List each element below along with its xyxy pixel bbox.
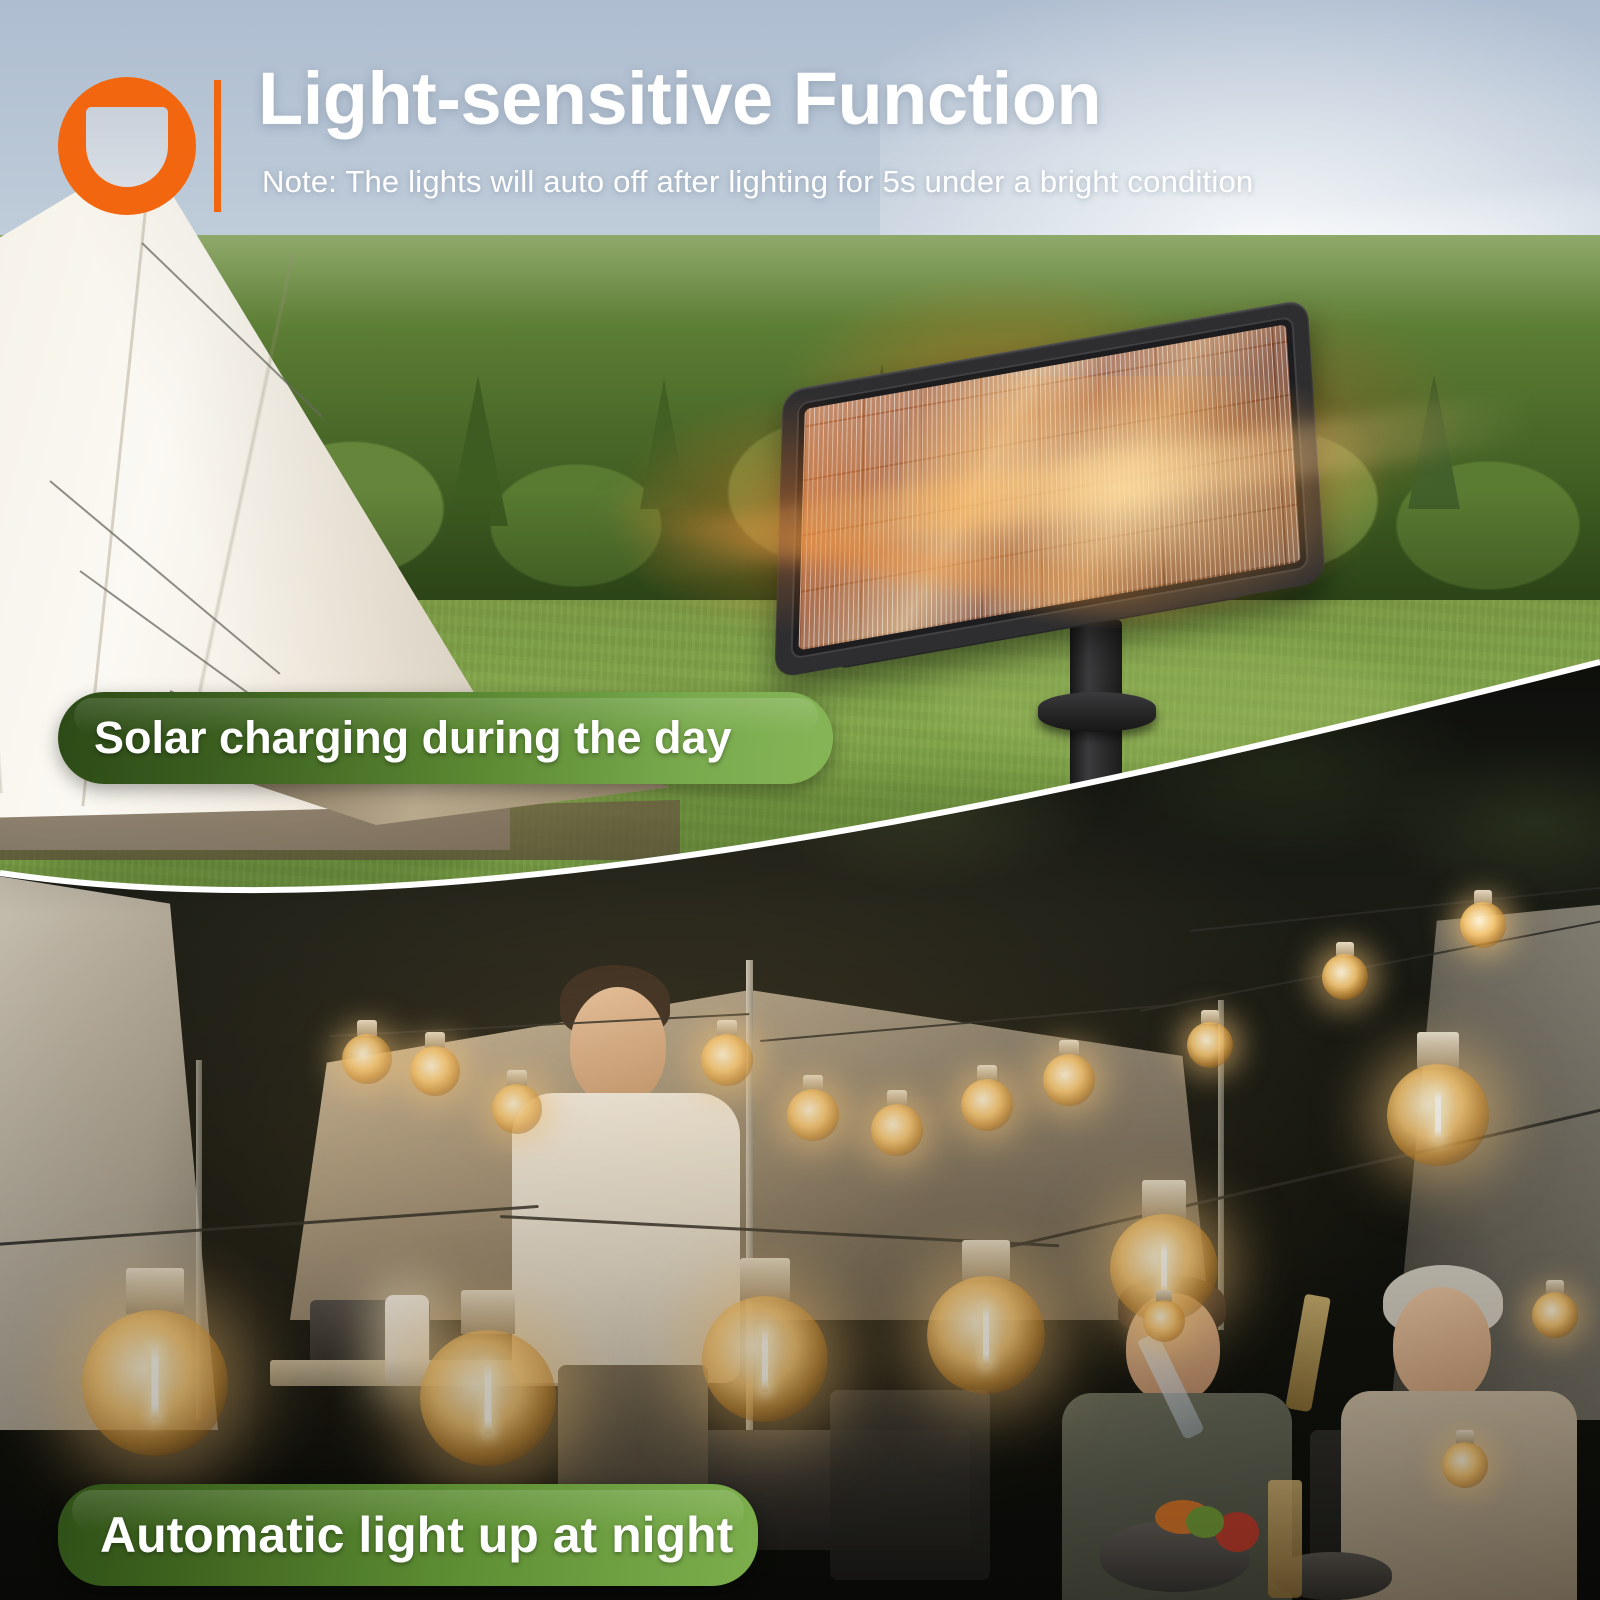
solar-panel	[774, 299, 1325, 679]
pole-collar	[1038, 692, 1156, 732]
badge-label: Automatic light up at night	[100, 1506, 733, 1564]
badge-label: Solar charging during the day	[94, 712, 732, 764]
product-feature-image: Light-sensitive Function Note: The light…	[0, 0, 1600, 1600]
page-subtitle: Note: The lights will auto off after lig…	[262, 164, 1253, 200]
vertical-divider-icon	[214, 80, 221, 212]
conifer-tree	[640, 379, 688, 509]
header: Light-sensitive Function Note: The light…	[0, 0, 1600, 230]
panel-glare	[799, 324, 1301, 650]
badge-solar-charging: Solar charging during the day	[58, 692, 833, 784]
badge-automatic-light: Automatic light up at night	[58, 1484, 758, 1586]
ring-logo-icon	[58, 77, 196, 215]
logo-inner-cutout	[86, 107, 168, 187]
page-title: Light-sensitive Function	[258, 62, 1101, 136]
solar-panel-assembly	[770, 330, 1380, 790]
